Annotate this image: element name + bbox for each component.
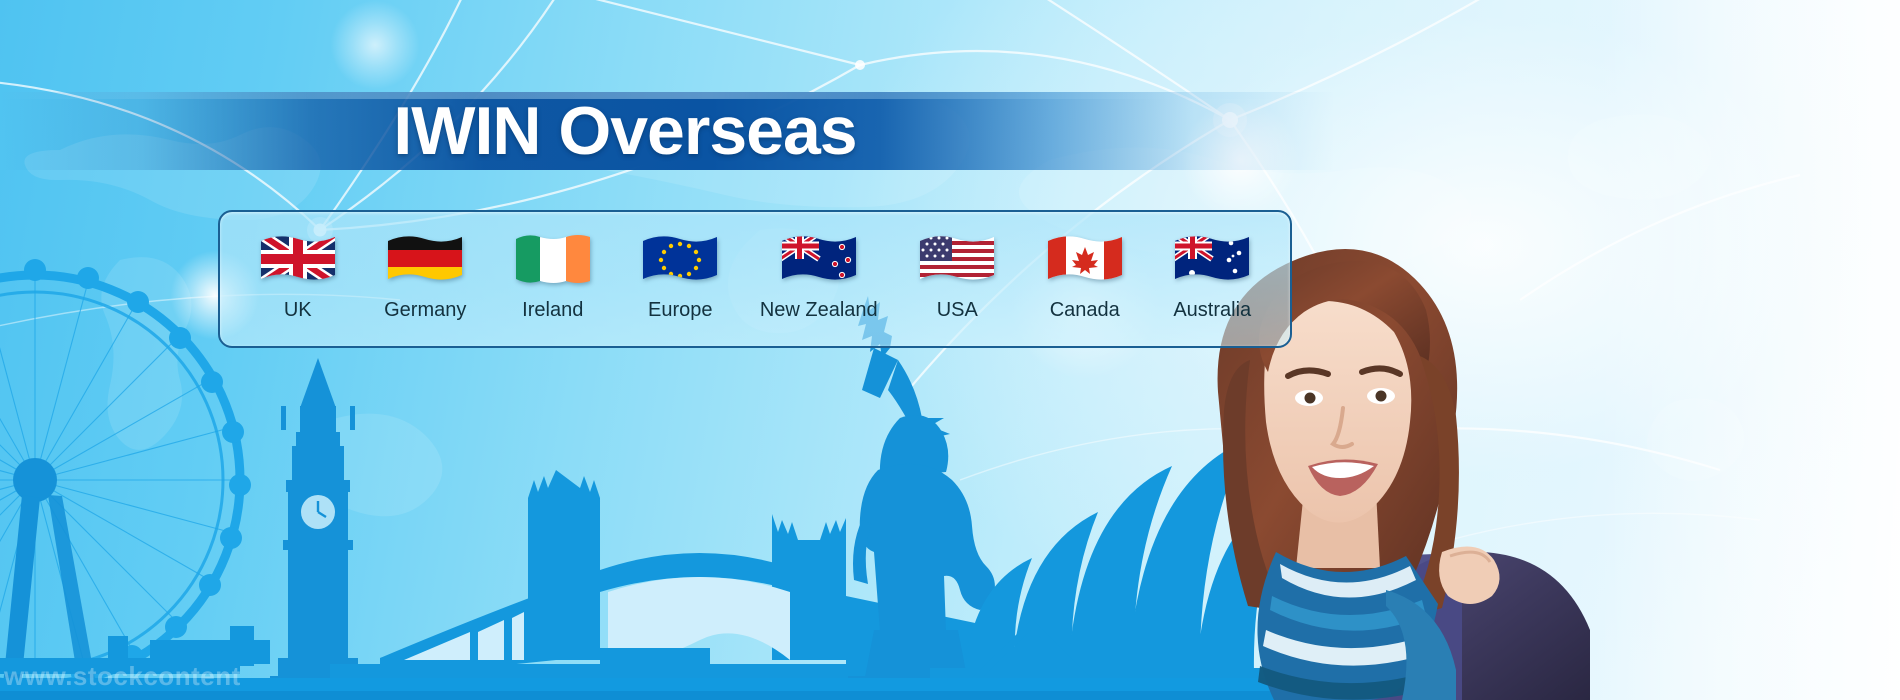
country-label: Australia bbox=[1173, 299, 1251, 322]
big-ben-clock-face bbox=[301, 495, 335, 529]
flag-usa-icon bbox=[918, 223, 996, 295]
country-label: Europe bbox=[648, 299, 713, 322]
flag-europe-icon bbox=[641, 223, 719, 295]
country-item-canada[interactable]: Canada bbox=[1026, 223, 1144, 335]
country-item-ireland[interactable]: Ireland bbox=[494, 223, 612, 335]
country-item-europe[interactable]: Europe bbox=[621, 223, 739, 335]
flag-australia-icon bbox=[1173, 223, 1251, 295]
glow-blob-top bbox=[330, 0, 420, 90]
country-item-usa[interactable]: USA bbox=[898, 223, 1016, 335]
country-item-germany[interactable]: Germany bbox=[366, 223, 484, 335]
tower-bridge-silhouette bbox=[0, 470, 1010, 700]
country-item-uk[interactable]: UK bbox=[239, 223, 357, 335]
london-eye-silhouette bbox=[0, 259, 251, 695]
country-label: Canada bbox=[1050, 299, 1120, 322]
flag-canada-icon bbox=[1046, 223, 1124, 295]
flag-uk-icon bbox=[259, 223, 337, 295]
statue-of-liberty-silhouette bbox=[848, 296, 995, 700]
flag-germany-icon bbox=[386, 223, 464, 295]
country-label: Ireland bbox=[522, 299, 583, 322]
flag-ireland-icon bbox=[514, 223, 592, 295]
tower-bridge-arch-openings bbox=[404, 577, 790, 660]
country-item-australia[interactable]: Australia bbox=[1153, 223, 1271, 335]
country-label: USA bbox=[937, 299, 978, 322]
hero-banner: www.stockcontent bbox=[0, 0, 1900, 700]
country-label: Germany bbox=[384, 299, 466, 322]
country-item-new-zealand[interactable]: New Zealand bbox=[749, 223, 889, 335]
page-title: IWIN Overseas bbox=[0, 82, 1250, 180]
destination-countries-panel: UK Germany bbox=[218, 210, 1292, 348]
country-label: New Zealand bbox=[760, 299, 878, 322]
flag-new-zealand-icon bbox=[780, 223, 858, 295]
opera-house-triangle-window bbox=[975, 624, 1088, 680]
big-ben-silhouette bbox=[270, 358, 366, 700]
right-fade-overlay bbox=[1600, 0, 1900, 700]
country-label: UK bbox=[284, 299, 312, 322]
